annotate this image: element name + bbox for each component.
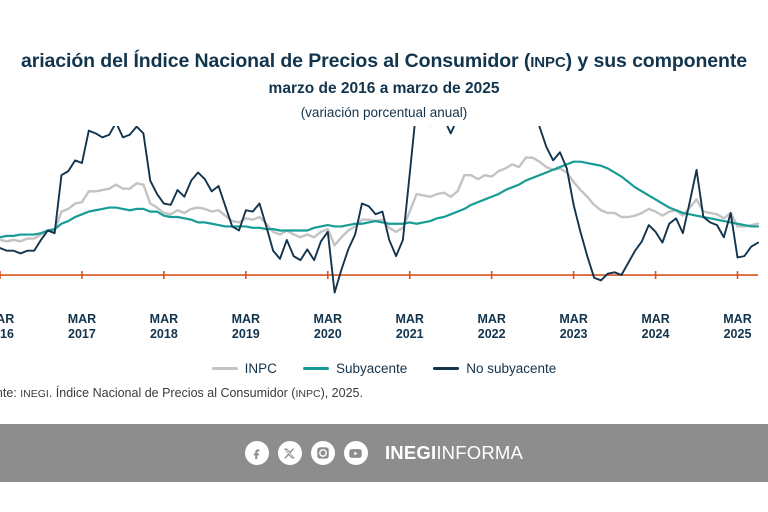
chart-subtitle-units: (variación porcentual anual)	[0, 105, 768, 120]
x-tick-label: MAR2019	[232, 312, 260, 342]
legend-swatch	[212, 367, 238, 370]
x-tick-label: MAR2016	[0, 312, 14, 342]
x-tick-month: MAR	[477, 312, 505, 327]
chart-title: ariación del Índice Nacional de Precios …	[0, 50, 768, 73]
youtube-icon[interactable]	[344, 441, 368, 465]
x-tick-month: MAR	[150, 312, 178, 327]
brand-bold: INEGI	[385, 442, 436, 463]
x-tick-year: 2025	[723, 327, 751, 342]
x-tick-year: 2022	[477, 327, 505, 342]
series-line-inpc	[0, 158, 758, 246]
x-tick-year: 2023	[559, 327, 587, 342]
legend-item[interactable]: INPC	[212, 361, 277, 376]
source-acronym-inpc: INPC	[295, 388, 320, 400]
chart-title-post: ) y sus componente	[566, 50, 747, 72]
bottom-spacer	[0, 482, 768, 512]
x-tick-year: 2021	[395, 327, 423, 342]
x-tick-label: MAR2022	[477, 312, 505, 342]
legend-swatch	[433, 367, 459, 370]
facebook-icon[interactable]	[245, 441, 269, 465]
chart-subtitle: marzo de 2016 a marzo de 2025	[0, 80, 768, 98]
series-line-no-subyacente	[0, 126, 758, 293]
legend-label: Subyacente	[336, 361, 407, 376]
source-suffix: ), 2025.	[321, 386, 363, 400]
chart-legend: INPCSubyacenteNo subyacente	[0, 361, 768, 376]
legend-item[interactable]: Subyacente	[303, 361, 407, 376]
chart-page: ariación del Índice Nacional de Precios …	[0, 0, 768, 512]
chart-title-acronym: INPC	[530, 54, 565, 71]
x-tick-month: MAR	[641, 312, 669, 327]
x-tick-month: MAR	[723, 312, 751, 327]
x-tick-year: 2024	[641, 327, 669, 342]
x-tick-month: MAR	[0, 312, 14, 327]
x-tick-month: MAR	[395, 312, 423, 327]
legend-swatch	[303, 367, 329, 370]
x-tick-label: MAR2025	[723, 312, 751, 342]
plot-area: 0246810	[0, 126, 768, 308]
source-acronym-inegi: INEGI	[20, 388, 49, 400]
instagram-icon[interactable]	[311, 441, 335, 465]
x-tick-year: 2017	[68, 327, 96, 342]
x-twitter-icon[interactable]	[278, 441, 302, 465]
source-note: uente: INEGI. Índice Nacional de Precios…	[0, 386, 750, 400]
brand-label: INEGIINFORMA	[385, 442, 523, 464]
x-tick-label: MAR2023	[559, 312, 587, 342]
legend-label: No subyacente	[466, 361, 556, 376]
chart-title-pre: ariación del Índice Nacional de Precios …	[21, 50, 530, 72]
x-tick-label: MAR2021	[395, 312, 423, 342]
series-line-subyacente	[0, 162, 758, 238]
x-tick-label: MAR2017	[68, 312, 96, 342]
source-prefix: uente:	[0, 386, 20, 400]
x-axis-labels: MAR2016MAR2017MAR2018MAR2019MAR2020MAR20…	[0, 312, 768, 352]
x-tick-year: 2020	[314, 327, 342, 342]
legend-item[interactable]: No subyacente	[433, 361, 556, 376]
chart-canvas	[0, 126, 768, 308]
x-tick-year: 2016	[0, 327, 14, 342]
x-tick-month: MAR	[314, 312, 342, 327]
footer-bar: INEGIINFORMA	[0, 424, 768, 482]
x-tick-label: MAR2020	[314, 312, 342, 342]
source-middle: . Índice Nacional de Precios al Consumid…	[49, 386, 296, 400]
x-tick-label: MAR2018	[150, 312, 178, 342]
x-tick-label: MAR2024	[641, 312, 669, 342]
x-tick-month: MAR	[232, 312, 260, 327]
x-tick-year: 2019	[232, 327, 260, 342]
x-tick-year: 2018	[150, 327, 178, 342]
x-tick-month: MAR	[68, 312, 96, 327]
x-tick-month: MAR	[559, 312, 587, 327]
legend-label: INPC	[245, 361, 277, 376]
brand-light: INFORMA	[436, 442, 523, 463]
